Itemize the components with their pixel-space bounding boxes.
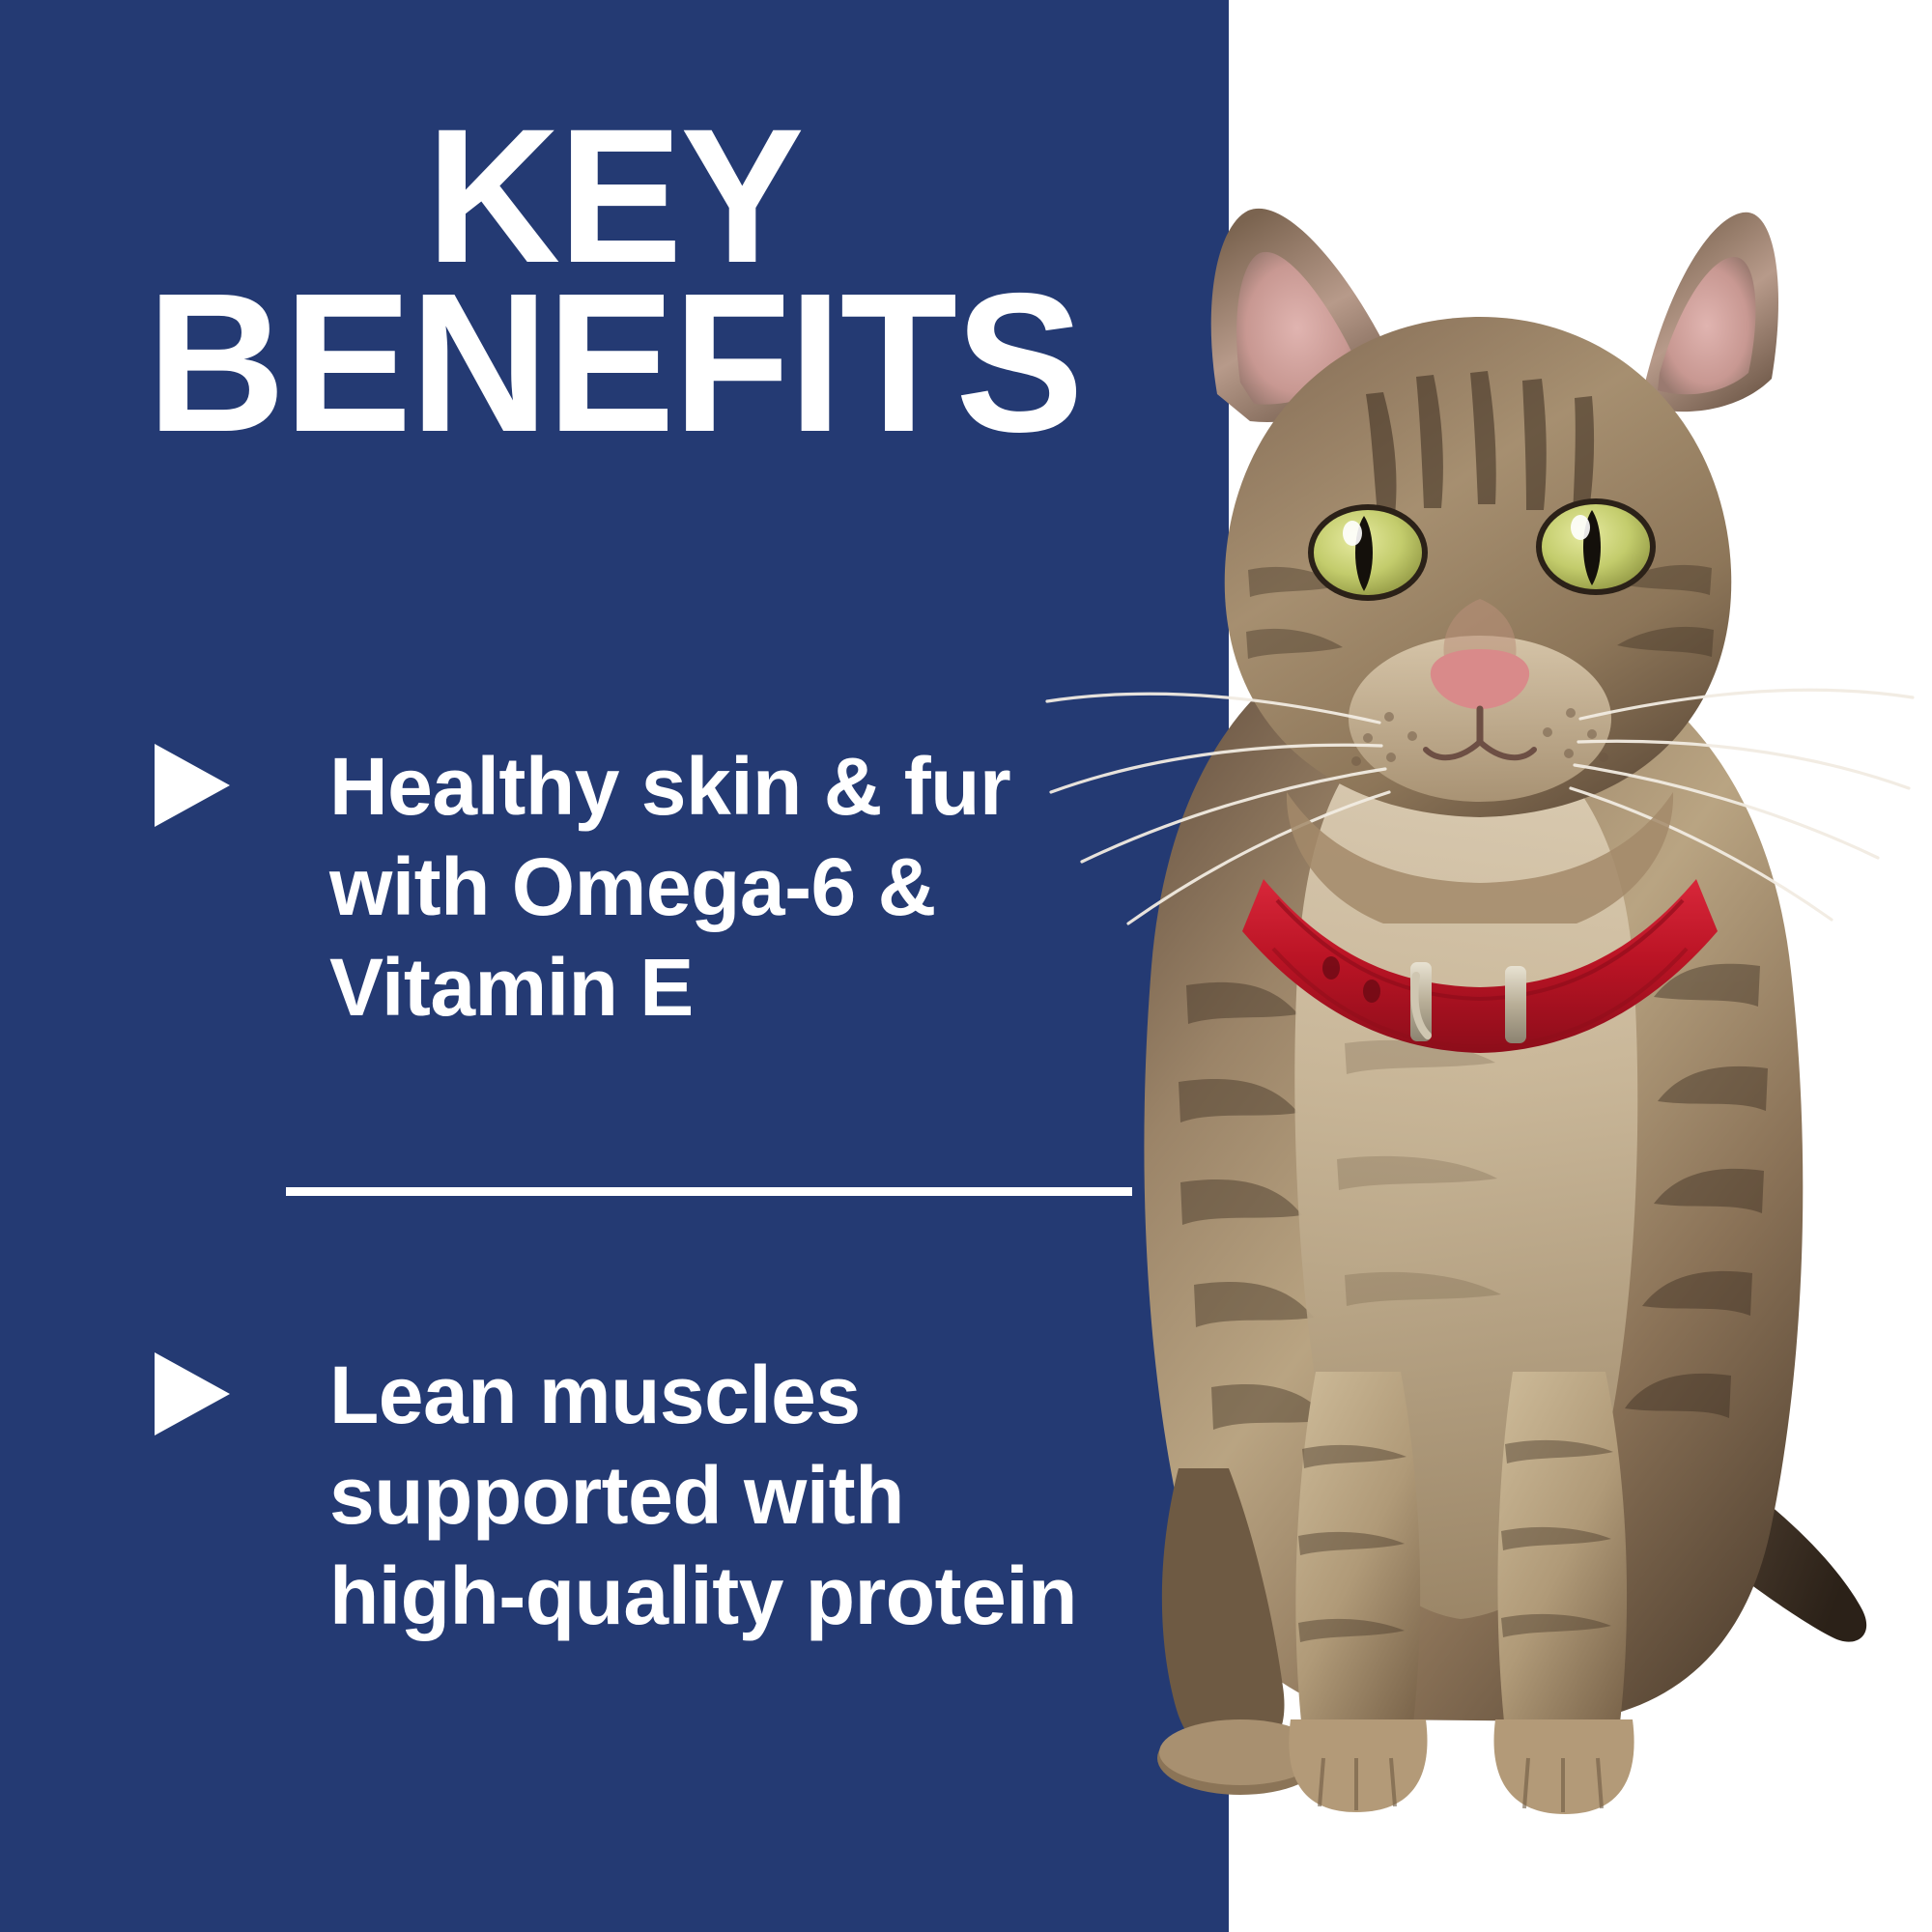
key-benefits-panel: KEY BENEFITS Healthy skin & fur with Ome… [0, 0, 1932, 1932]
tabby-cat-image [958, 116, 1924, 1855]
triangle-bullet-icon [155, 744, 230, 827]
cat-photo-area [1229, 0, 1932, 1932]
triangle-bullet-icon [155, 1352, 230, 1435]
cat-eye-right [1536, 498, 1656, 595]
cat-eye-left [1308, 504, 1428, 601]
